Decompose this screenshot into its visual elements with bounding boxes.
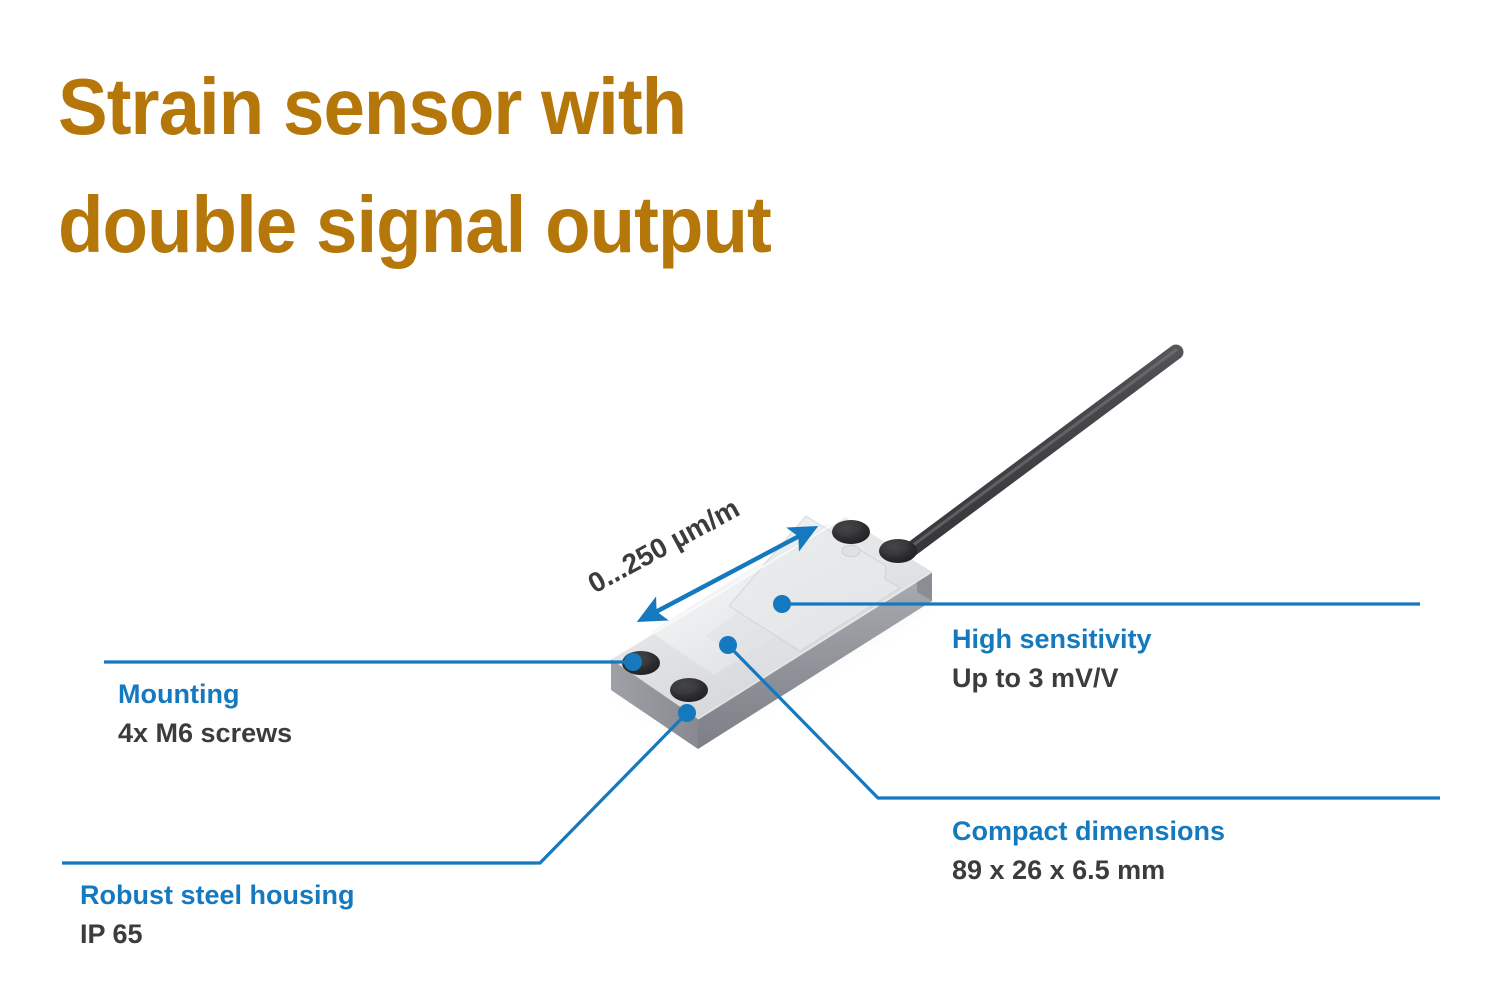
callout-housing-detail: IP 65 (80, 914, 355, 954)
callout-compact-dimensions: Compact dimensions 89 x 26 x 6.5 mm (952, 812, 1225, 890)
callout-sensitivity-detail: Up to 3 mV/V (952, 658, 1152, 698)
callout-mounting: Mounting 4x M6 screws (118, 675, 292, 753)
leader-endpoint-dot-housing (678, 704, 696, 722)
leader-endpoint-dot-sensitivity (773, 595, 791, 613)
poster-canvas: Strain sensor with double signal output (0, 0, 1500, 1006)
leader-endpoint-dot-dimensions (719, 636, 737, 654)
callout-dimensions-detail: 89 x 26 x 6.5 mm (952, 850, 1225, 890)
callout-sensitivity-heading: High sensitivity (952, 620, 1152, 658)
callout-high-sensitivity: High sensitivity Up to 3 mV/V (952, 620, 1152, 698)
callout-dimensions-heading: Compact dimensions (952, 812, 1225, 850)
leader-high-sensitivity (773, 595, 1420, 613)
callout-leader-lines (0, 0, 1500, 1006)
callout-housing-heading: Robust steel housing (80, 876, 355, 914)
callout-mounting-detail: 4x M6 screws (118, 713, 292, 753)
callout-robust-steel-housing: Robust steel housing IP 65 (80, 876, 355, 954)
leader-endpoint-dot-mounting (624, 653, 642, 671)
leader-mounting (104, 653, 642, 671)
callout-mounting-heading: Mounting (118, 675, 292, 713)
